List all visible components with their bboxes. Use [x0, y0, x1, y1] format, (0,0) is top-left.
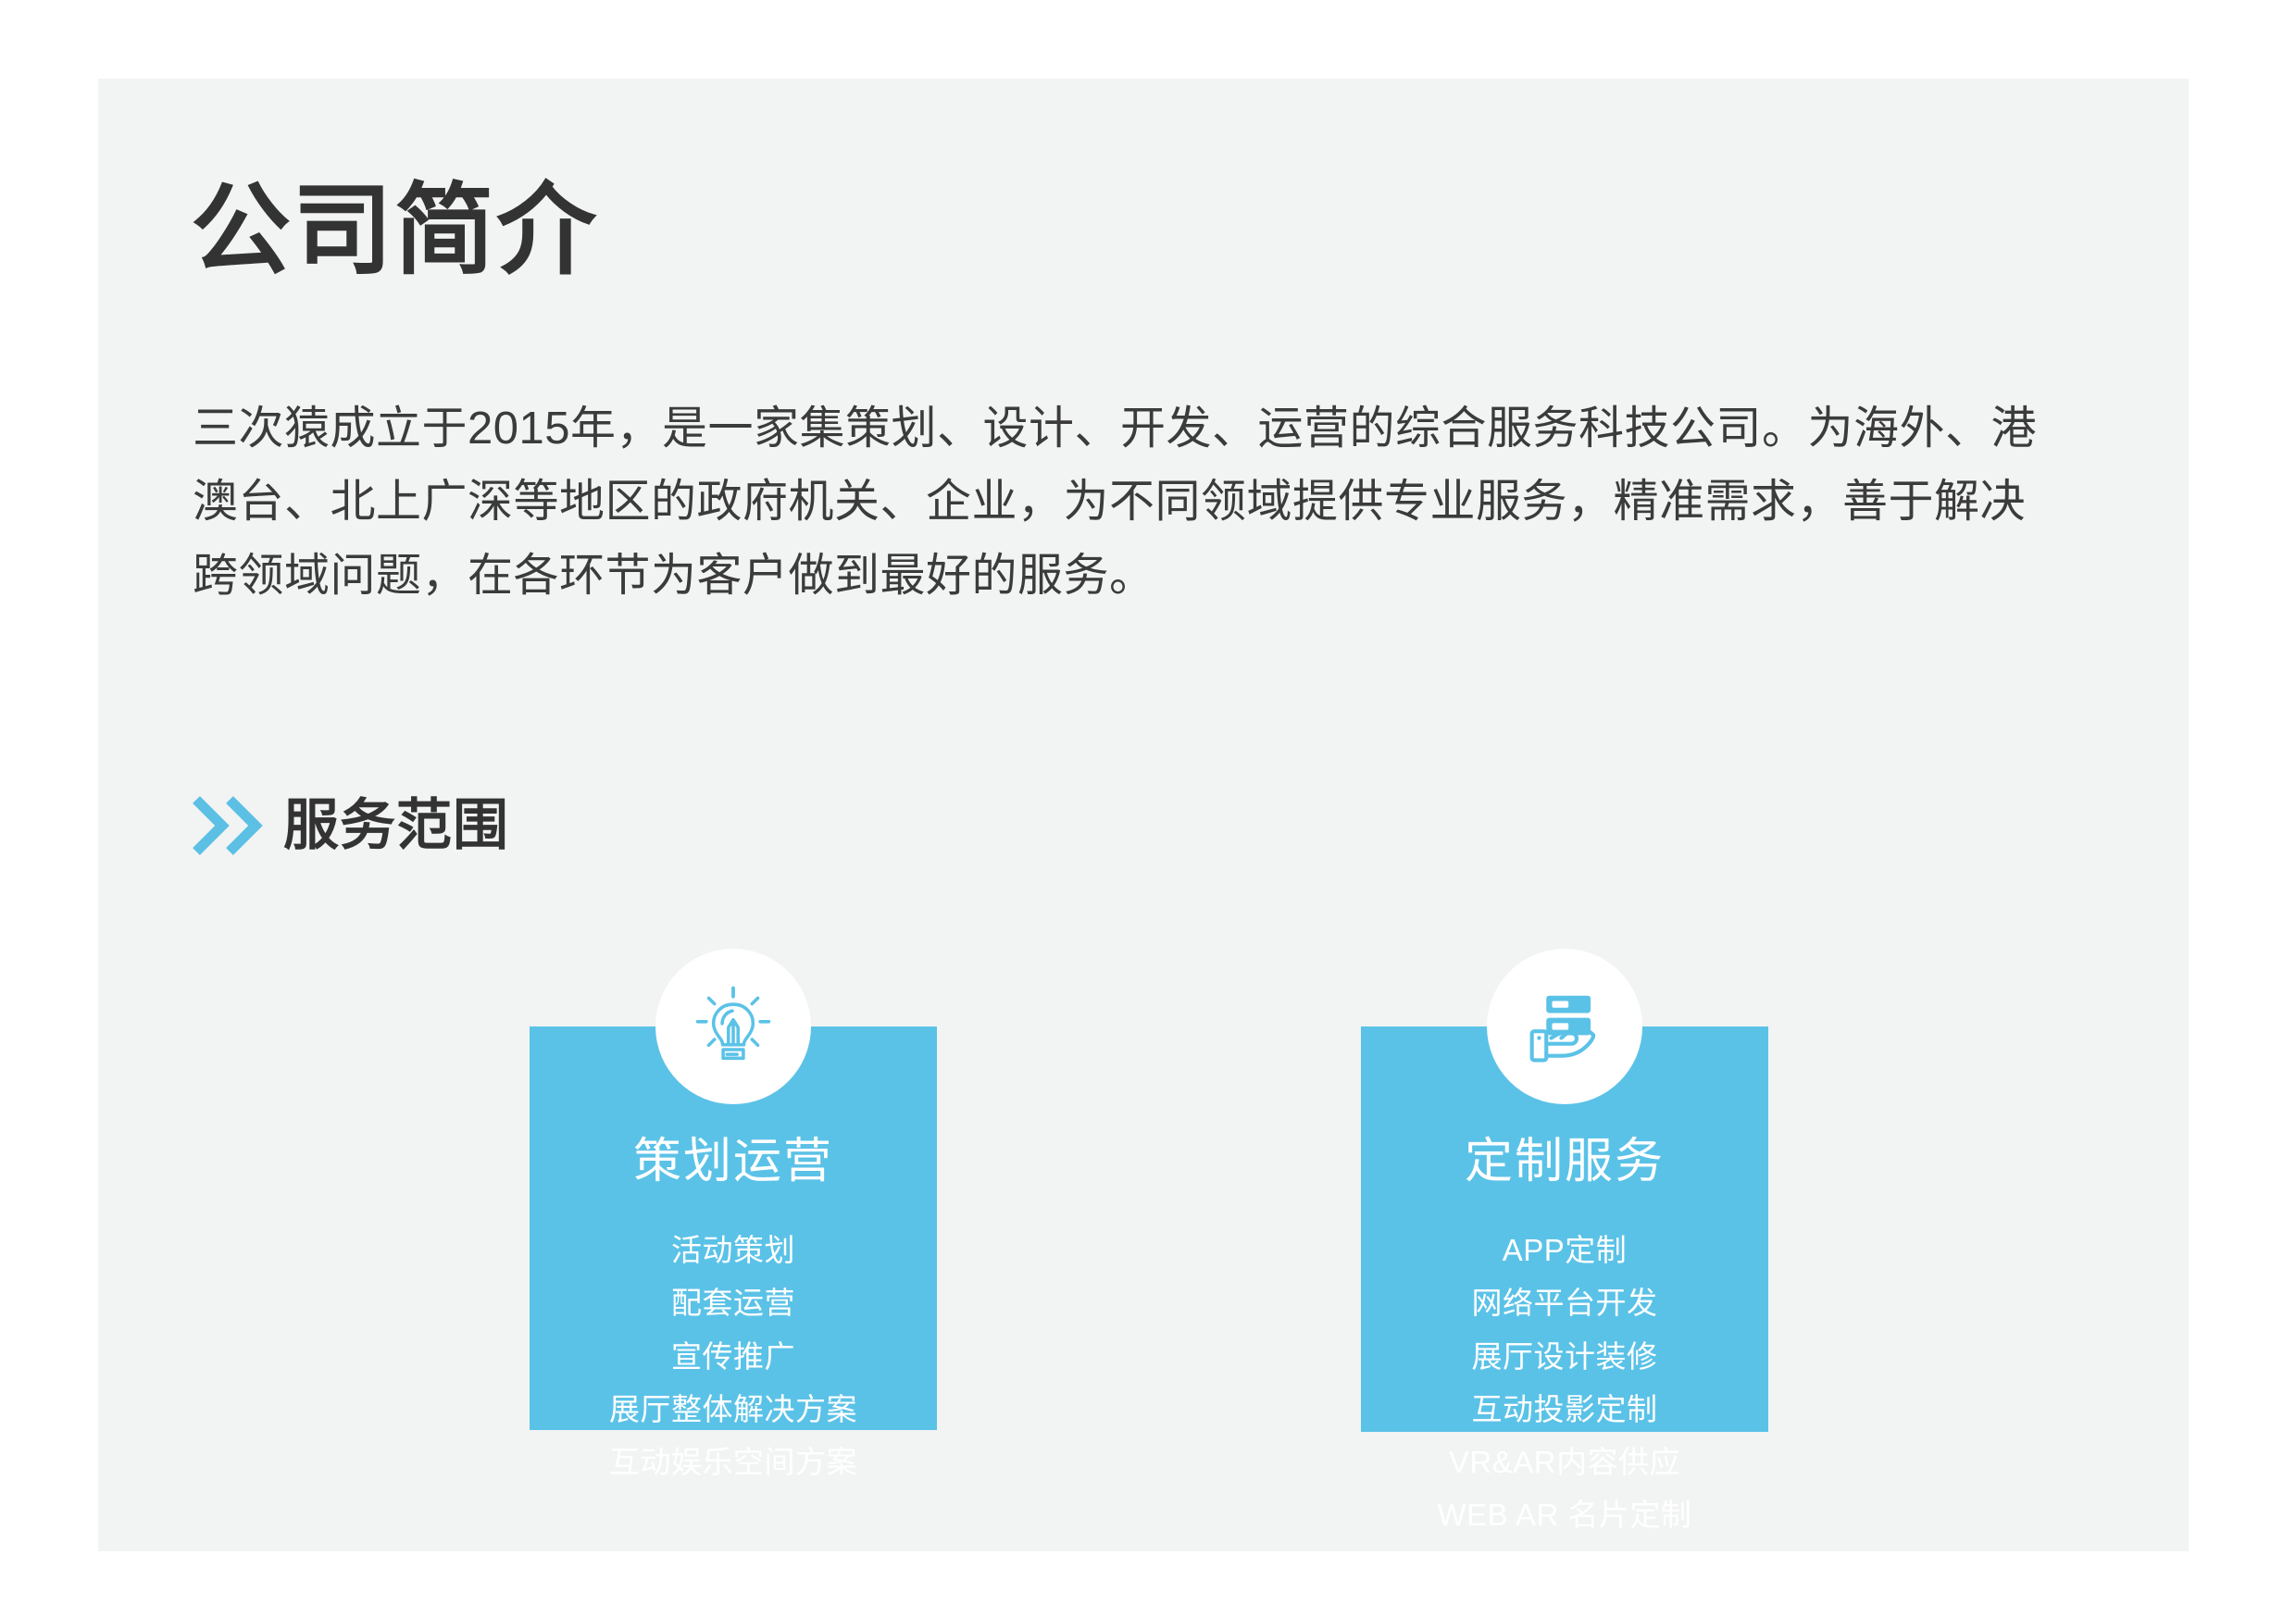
list-item: 配套运营 — [543, 1287, 924, 1320]
service-cards-row: 策划运营 活动策划 配套运营 宣传推广 展厅整体解决方案 互动娱乐空间方案 — [98, 949, 2189, 1541]
lightbulb-pencil-idea-icon — [655, 949, 811, 1104]
list-item: APP定制 — [1374, 1234, 1755, 1267]
service-list: 活动策划 配套运营 宣传推广 展厅整体解决方案 互动娱乐空间方案 — [543, 1234, 924, 1479]
section-heading: 服务范围 — [191, 793, 509, 858]
list-item: 宣传推广 — [543, 1340, 924, 1374]
service-list: APP定制 网络平台开发 展厅设计装修 互动投影定制 VR&AR内容供应 WEB… — [1374, 1234, 1755, 1533]
list-item: VR&AR内容供应 — [1374, 1446, 1755, 1479]
service-card-custom[interactable]: 定制服务 APP定制 网络平台开发 展厅设计装修 互动投影定制 VR&AR内容供… — [1361, 1026, 1768, 1432]
list-item: 网络平台开发 — [1374, 1287, 1755, 1320]
company-intro-paragraph: 三次猿成立于2015年，是一家集策划、设计、开发、运营的综合服务科技公司。为海外… — [193, 392, 2053, 613]
list-item: 活动策划 — [543, 1234, 924, 1267]
double-chevron-right-icon — [191, 793, 263, 858]
list-item: 展厅设计装修 — [1374, 1340, 1755, 1374]
list-item: 互动投影定制 — [1374, 1393, 1755, 1426]
card-title: 定制服务 — [1465, 1138, 1665, 1186]
list-item: 互动娱乐空间方案 — [543, 1446, 924, 1479]
list-item: WEB AR 名片定制 — [1374, 1499, 1755, 1532]
content-panel: 公司简介 三次猿成立于2015年，是一家集策划、设计、开发、运营的综合服务科技公… — [98, 79, 2189, 1551]
page-title: 公司简介 — [191, 173, 598, 288]
hand-holding-server-icon — [1487, 949, 1642, 1104]
card-title: 策划运营 — [633, 1138, 833, 1186]
service-card-planning[interactable]: 策划运营 活动策划 配套运营 宣传推广 展厅整体解决方案 互动娱乐空间方案 — [530, 1026, 937, 1430]
section-heading-label: 服务范围 — [283, 798, 509, 853]
list-item: 展厅整体解决方案 — [543, 1393, 924, 1426]
